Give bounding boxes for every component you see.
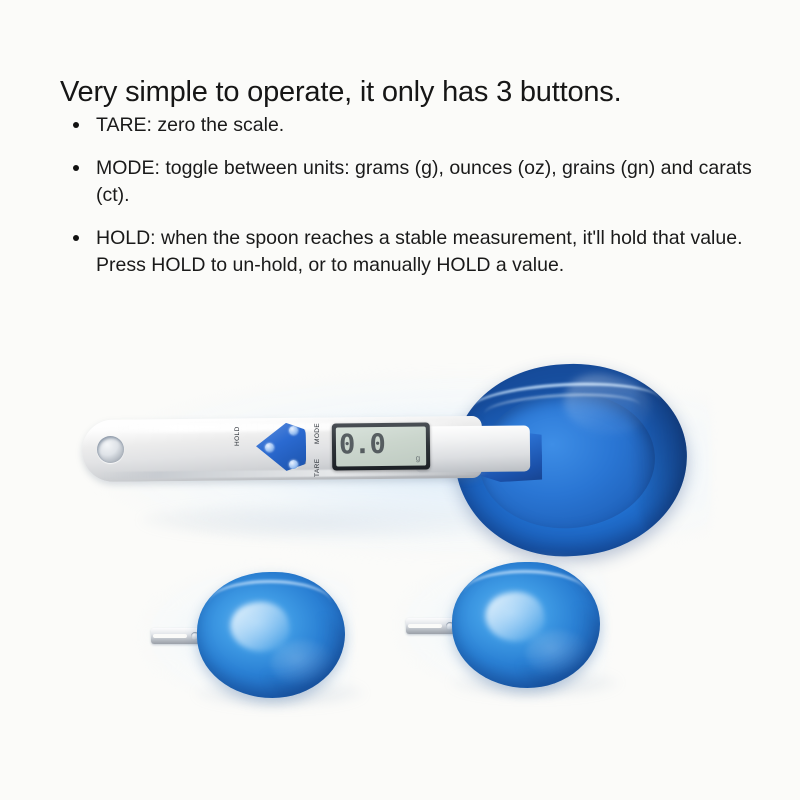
mode-button-label: MODE [314,423,321,444]
lcd-unit: g [416,454,421,463]
page-title: Very simple to operate, it only has 3 bu… [60,76,621,109]
digital-spoon-scale: HOLD MODE TARE 0.0 g [70,360,710,560]
list-item-text: MODE: toggle between units: grams (g), o… [96,155,756,209]
bracket-slot [153,634,187,638]
list-item: TARE: zero the scale. [68,112,758,139]
bowl-edge-shading [516,602,600,688]
bowl-edge-shading [261,612,345,698]
hold-button[interactable] [265,443,274,452]
instruction-bullet-list: TARE: zero the scale. MODE: toggle betwe… [68,112,758,295]
tare-button-label: TARE [314,459,321,477]
bullet-dot-icon [73,165,79,171]
bracket-slot [408,624,442,628]
bullet-dot-icon [73,235,79,241]
hanging-hole [97,436,124,463]
spoon-bowl-small [452,562,600,688]
list-item: MODE: toggle between units: grams (g), o… [68,155,758,209]
spoon-small-right [400,560,600,690]
list-item: HOLD: when the spoon reaches a stable me… [68,225,758,279]
lcd-bezel: 0.0 g [332,422,430,470]
bullet-dot-icon [73,122,79,128]
spoon-small-left [145,570,345,700]
product-photo: HOLD MODE TARE 0.0 g [0,320,800,800]
lcd-value: 0.0 [339,429,385,461]
hold-button-label: HOLD [234,426,241,446]
list-item-text: HOLD: when the spoon reaches a stable me… [96,225,756,279]
list-item-text: TARE: zero the scale. [96,112,756,139]
lcd-screen: 0.0 g [336,427,426,467]
mode-button[interactable] [289,426,298,435]
handle-neck [415,425,530,472]
spoon-bowl-small [197,572,345,698]
tare-button[interactable] [289,460,298,469]
